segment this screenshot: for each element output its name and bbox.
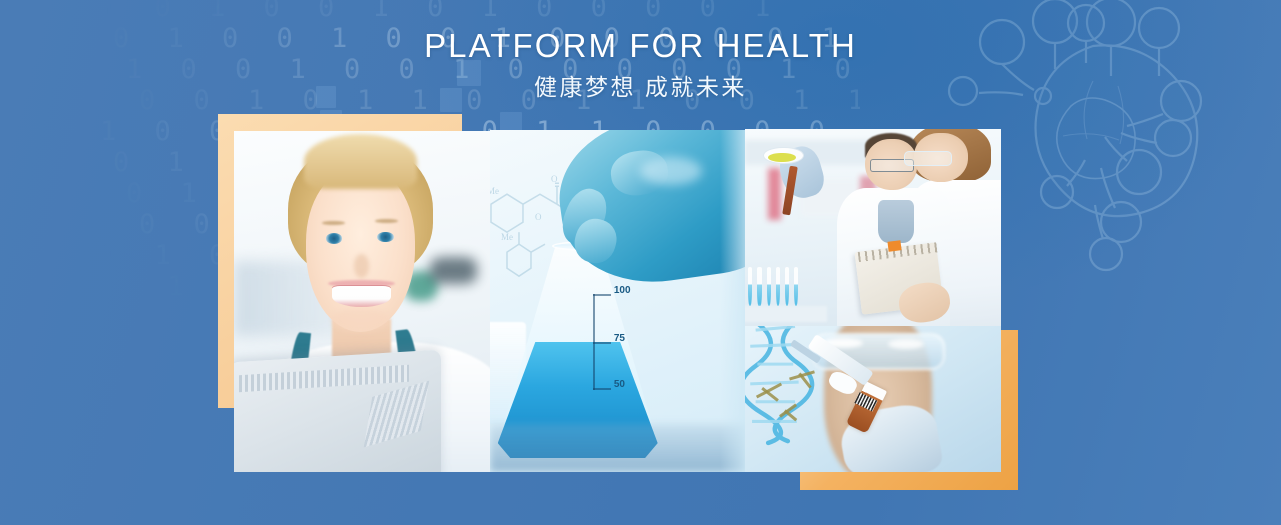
flask-label-75: 75 (614, 333, 625, 344)
svg-text:Me: Me (490, 186, 499, 196)
flask-label-50: 50 (614, 379, 625, 390)
researcher-dna-photo (745, 326, 1001, 472)
svg-text:O: O (551, 174, 558, 184)
flask-label-100: 100 (614, 285, 631, 296)
smiling-doctor-photo (234, 131, 492, 472)
health-platform-banner: 1 0 1 0 0 1 0 1 0 0 0 0 10 1 0 0 1 0 0 1… (0, 0, 1281, 525)
svg-text:Me: Me (501, 232, 513, 242)
svg-text:O: O (535, 212, 542, 222)
flask-photo: Me O OH Me O 100 75 50 (490, 130, 748, 472)
banner-title-block: PLATFORM FOR HEALTH 健康梦想 成就未来 (0, 26, 1281, 102)
page-title: PLATFORM FOR HEALTH (0, 26, 1281, 66)
page-subtitle: 健康梦想 成就未来 (0, 72, 1281, 102)
scientists-photo (745, 129, 1001, 326)
